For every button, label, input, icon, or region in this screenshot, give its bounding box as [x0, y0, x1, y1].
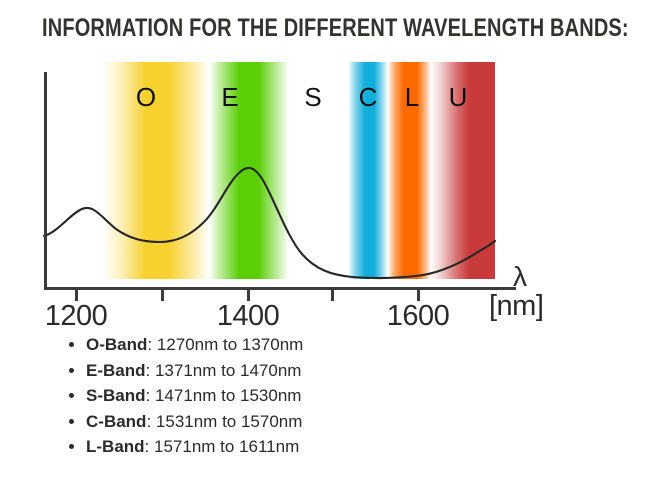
page-title: INFORMATION FOR THE DIFFERENT WAVELENGTH… [42, 14, 629, 43]
x-axis [44, 287, 516, 290]
x-tick-label-1600: 1600 [363, 300, 473, 333]
band-range: 1371nm to 1470nm [155, 361, 302, 380]
wavelength-band-chart: O E S C L U 1200 1400 1600 λ [nm] [0, 52, 650, 320]
band-separator: : [146, 412, 155, 431]
band-range: 1571nm to 1611nm [154, 437, 299, 456]
x-tick-label-1400: 1400 [193, 300, 303, 333]
y-axis [44, 72, 47, 289]
x-tick-1500 [331, 290, 334, 301]
band-name: C-Band [86, 412, 146, 431]
band-range: 1270nm to 1370nm [157, 335, 304, 354]
list-item: E-Band: 1371nm to 1470nm [86, 358, 303, 384]
list-item: S-Band: 1471nm to 1530nm [86, 383, 303, 409]
band-range: 1471nm to 1530nm [155, 386, 302, 405]
x-tick-label-1200: 1200 [21, 300, 131, 333]
band-range: 1531nm to 1570nm [156, 412, 303, 431]
x-axis-unit: [nm] [489, 290, 543, 323]
list-item: C-Band: 1531nm to 1570nm [86, 409, 303, 435]
band-name: S-Band [86, 386, 146, 405]
band-separator: : [146, 386, 155, 405]
x-axis-symbol: λ [513, 261, 527, 293]
band-separator: : [147, 335, 156, 354]
x-tick-1300 [161, 290, 164, 301]
band-definition-list: O-Band: 1270nm to 1370nm E-Band: 1371nm … [62, 332, 303, 460]
attenuation-curve [44, 62, 495, 279]
list-item: L-Band: 1571nm to 1611nm [86, 434, 303, 460]
plot-area: O E S C L U 1200 1400 1600 [44, 62, 495, 279]
band-separator: : [145, 437, 154, 456]
band-name: O-Band [86, 335, 147, 354]
band-separator: : [146, 361, 155, 380]
band-name: L-Band [86, 437, 145, 456]
band-name: E-Band [86, 361, 146, 380]
list-item: O-Band: 1270nm to 1370nm [86, 332, 303, 358]
